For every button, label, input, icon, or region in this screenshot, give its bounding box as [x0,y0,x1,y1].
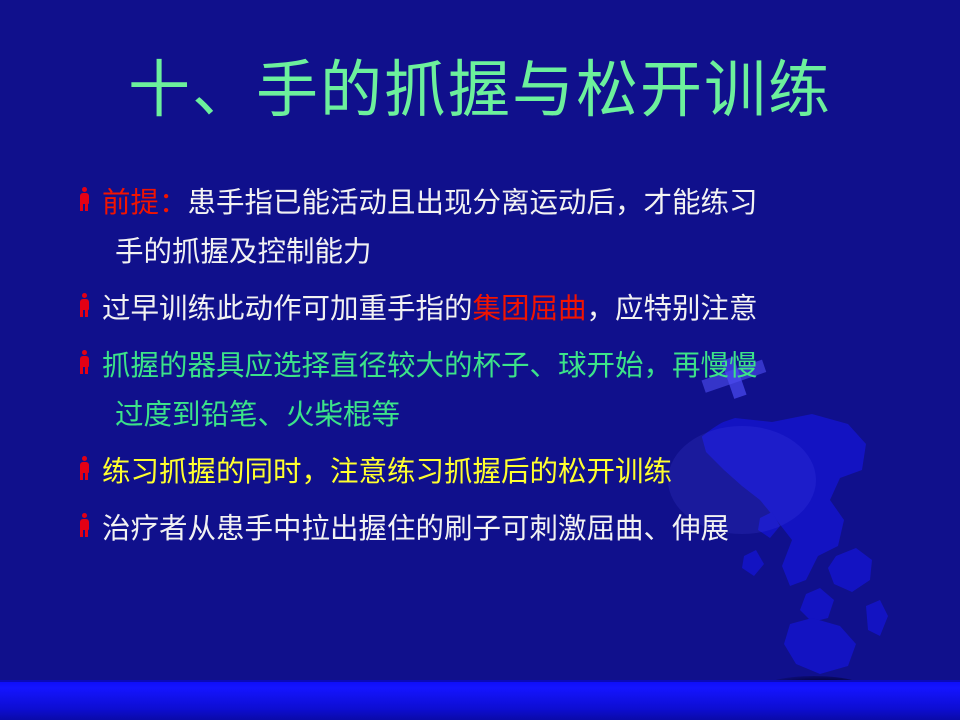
bullet-item: 治疗者从患手中拉出握住的刷子可刺激屈曲、伸展 [76,504,906,553]
bullet-text-segment: ，应特别注意 [587,292,758,325]
presentation-slide: 十、手的抓握与松开训练 前提：患手指已能活动且出现分离运动后，才能练习 手的抓握… [0,0,960,720]
bullet-list: 前提：患手指已能活动且出现分离运动后，才能练习 手的抓握及控制能力 过早训练此动… [76,178,906,561]
bullet-text-segment: 集团屈曲 [473,292,587,325]
person-bullet-icon [79,513,90,537]
slide-title: 十、手的抓握与松开训练 [0,57,960,122]
bullet-item: 抓握的器具应选择直径较大的杯子、球开始，再慢慢 过度到铅笔、火柴棍等 [76,341,906,439]
bullet-text-segment: 治疗者从患手中拉出握住的刷子可刺激屈曲、伸展 [102,512,729,545]
bullet-item: 过早训练此动作可加重手指的集团屈曲，应特别注意 [76,284,906,333]
bullet-text-segment: 练习抓握的同时，注意练习抓握后的松开训练 [102,455,672,488]
footer-bar-top-edge [0,680,960,682]
bullet-text-segment: 抓握的器具应选择直径较大的杯子、球开始，再慢慢 [102,349,758,382]
bullet-item: 练习抓握的同时，注意练习抓握后的松开训练 [76,447,906,496]
bullet-text-segment: 过度到铅笔、火柴棍等 [102,390,906,439]
person-bullet-icon [79,187,90,211]
bullet-text-segment: 前提： [102,186,188,219]
person-bullet-icon [79,456,90,480]
bullet-text-segment: 过早训练此动作可加重手指的 [102,292,473,325]
footer-bar [0,680,960,720]
bullet-text-segment: 患手指已能活动且出现分离运动后，才能练习 [188,186,758,219]
bullet-text-segment: 手的抓握及控制能力 [102,227,906,276]
bullet-item: 前提：患手指已能活动且出现分离运动后，才能练习 手的抓握及控制能力 [76,178,906,276]
person-bullet-icon [79,293,90,317]
person-bullet-icon [79,350,90,374]
